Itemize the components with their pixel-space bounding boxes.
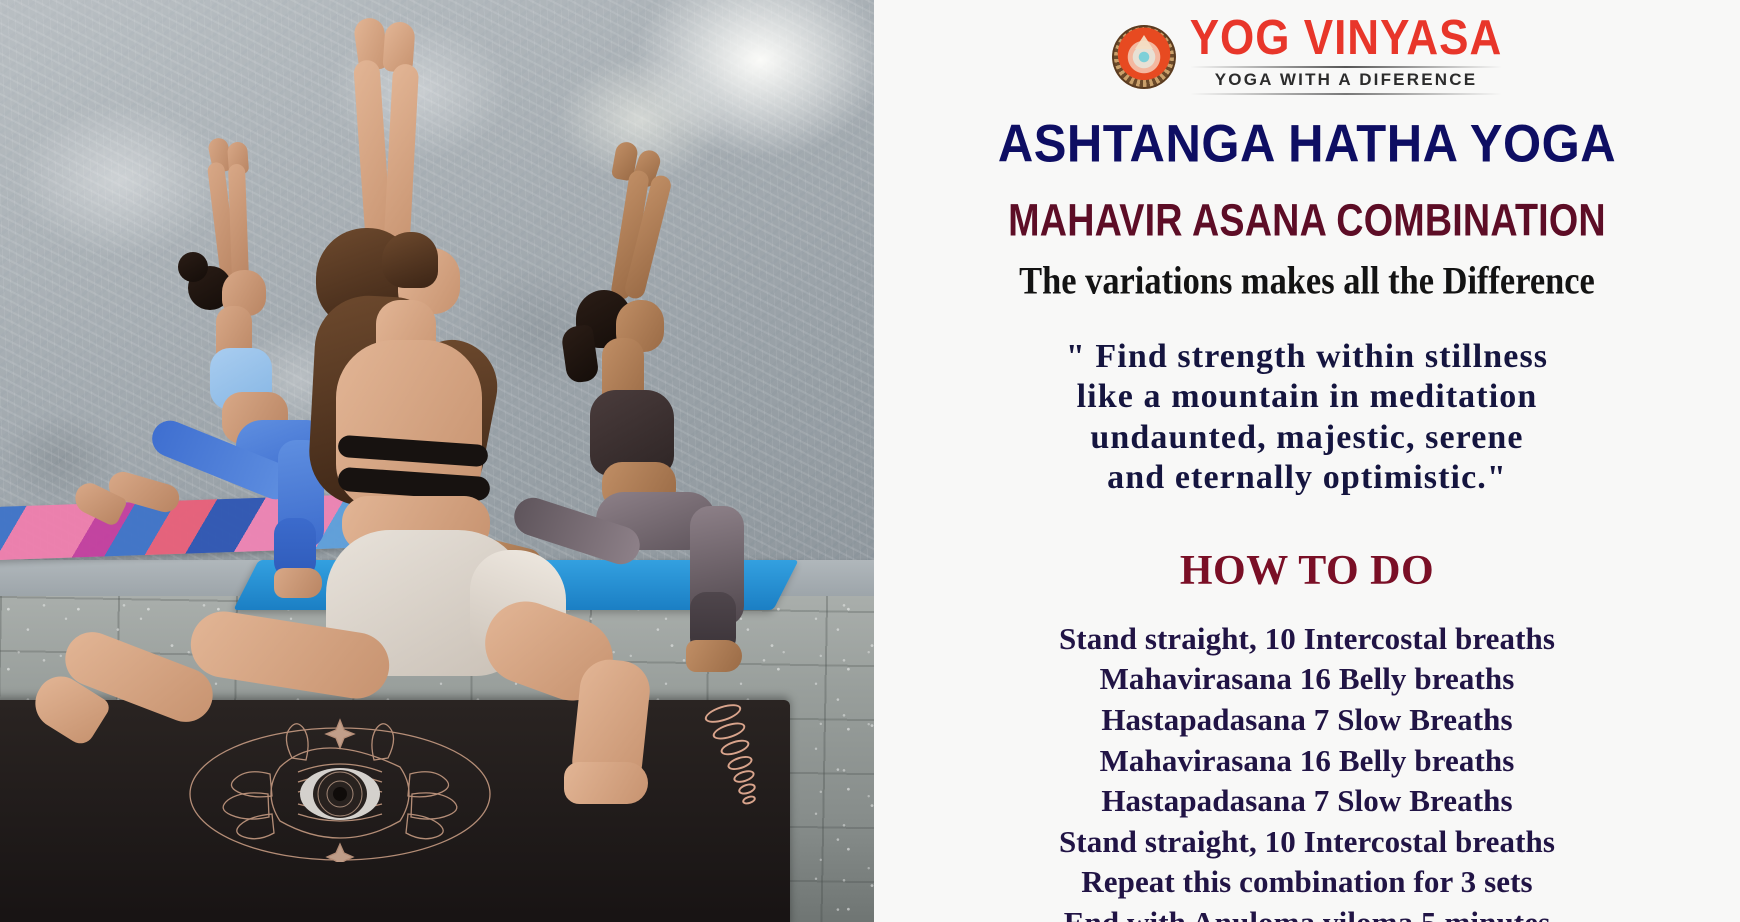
info-panel: YOG VINYASA YOGA WITH A DIFERENCE ASHTAN… bbox=[874, 0, 1740, 922]
inspirational-quote: " Find strength within stillness like a … bbox=[910, 337, 1704, 499]
logo-wordmark: YOG VINYASA YOGA WITH A DIFERENCE bbox=[1190, 19, 1503, 95]
quote-line: " Find strength within stillness bbox=[910, 337, 1704, 377]
page-title: ASHTANGA HATHA YOGA bbox=[910, 114, 1704, 174]
list-item: Stand straight, 10 Intercostal breaths bbox=[910, 822, 1704, 863]
yoga-poster: YOG VINYASA YOGA WITH A DIFERENCE ASHTAN… bbox=[0, 0, 1740, 922]
logo-divider-top bbox=[1190, 66, 1503, 68]
brand-logo[interactable]: YOG VINYASA YOGA WITH A DIFERENCE bbox=[910, 18, 1704, 96]
brand-tagline: YOGA WITH A DIFERENCE bbox=[1190, 70, 1503, 90]
page-subtitle: MAHAVIR ASANA COMBINATION bbox=[942, 195, 1672, 247]
variations-tagline: The variations makes all the Difference bbox=[938, 259, 1676, 305]
quote-line: like a mountain in meditation bbox=[910, 377, 1704, 417]
mat-edge-dot-pattern bbox=[700, 706, 796, 816]
quote-line: undaunted, majestic, serene bbox=[910, 418, 1704, 458]
brand-name: YOG VINYASA bbox=[1190, 14, 1503, 63]
yoga-practice-photo bbox=[0, 0, 874, 922]
list-item: Mahavirasana 16 Belly breaths bbox=[910, 659, 1704, 700]
list-item: Repeat this combination for 3 sets bbox=[910, 862, 1704, 903]
list-item: Hastapadasana 7 Slow Breaths bbox=[910, 700, 1704, 741]
how-to-do-heading: HOW TO DO bbox=[910, 547, 1704, 595]
yoga-practitioner-main bbox=[320, 10, 700, 810]
mandala-emblem-icon bbox=[1112, 25, 1176, 89]
list-item: End with Anuloma viloma 5 minutes bbox=[910, 903, 1704, 922]
logo-divider-bottom bbox=[1190, 93, 1503, 95]
list-item: Stand straight, 10 Intercostal breaths bbox=[910, 619, 1704, 660]
list-item: Hastapadasana 7 Slow Breaths bbox=[910, 781, 1704, 822]
quote-line: and eternally optimistic." bbox=[910, 458, 1704, 498]
list-item: Mahavirasana 16 Belly breaths bbox=[910, 741, 1704, 782]
instruction-list: Stand straight, 10 Intercostal breaths M… bbox=[910, 619, 1704, 922]
